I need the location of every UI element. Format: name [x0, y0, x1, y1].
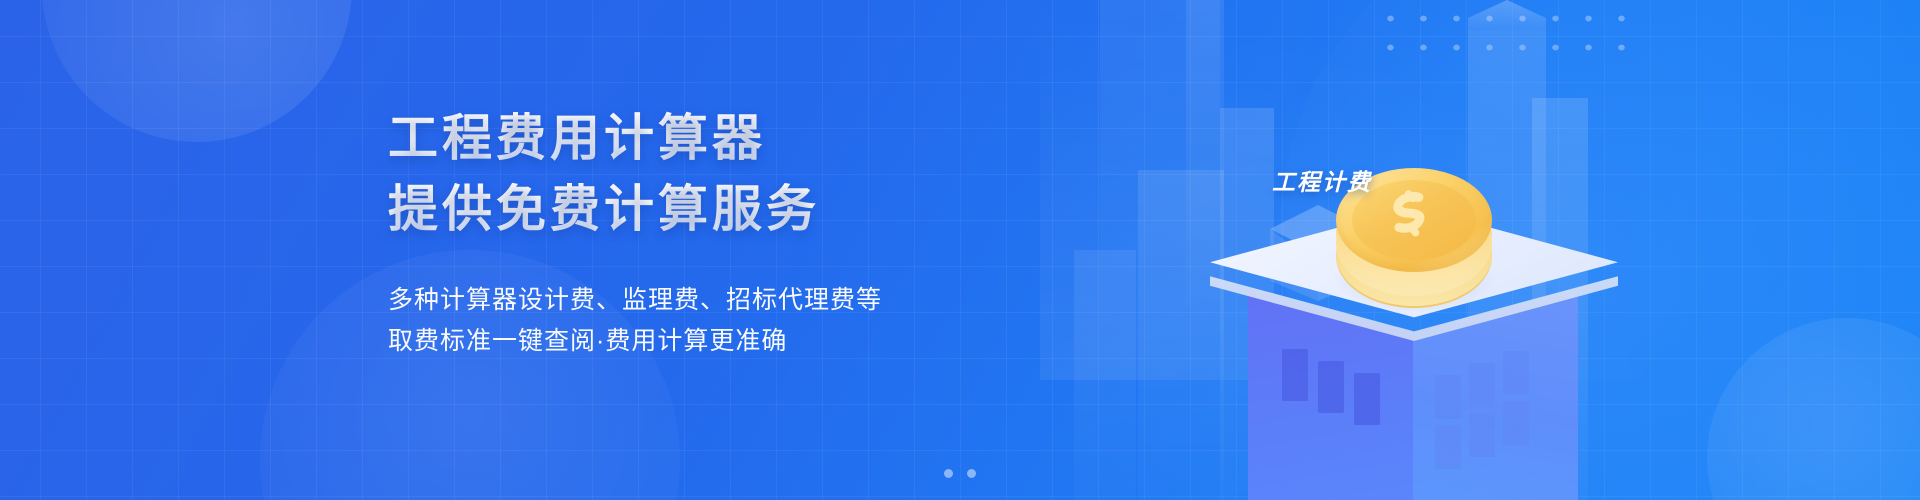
- banner-illustration: [1080, 0, 1780, 500]
- promo-banner: 工程费用计算器 提供免费计算服务 多种计算器设计费、监理费、招标代理费等 取费标…: [0, 0, 1920, 500]
- skyline-bar-3-cap: [1468, 0, 1546, 30]
- banner-headline-line2: 提供免费计算服务: [388, 179, 1008, 240]
- skyline-bar-5: [1074, 250, 1136, 500]
- banner-subline-2: 取费标准一键查阅·费用计算更准确: [388, 321, 1008, 362]
- circle-decoration-top-left: [42, 0, 352, 142]
- carousel-dot-1[interactable]: [944, 469, 953, 478]
- carousel-dot-2[interactable]: [967, 469, 976, 478]
- banner-headline-line1: 工程费用计算器: [388, 108, 1008, 169]
- carousel-indicators[interactable]: [0, 469, 1920, 478]
- banner-subtext: 多种计算器设计费、监理费、招标代理费等 取费标准一键查阅·费用计算更准确: [388, 280, 1008, 362]
- banner-copy: 工程费用计算器 提供免费计算服务 多种计算器设计费、监理费、招标代理费等 取费标…: [388, 108, 1008, 362]
- banner-subline-1: 多种计算器设计费、监理费、招标代理费等: [388, 280, 1008, 321]
- illustration-label: 工程计费: [1272, 163, 1372, 197]
